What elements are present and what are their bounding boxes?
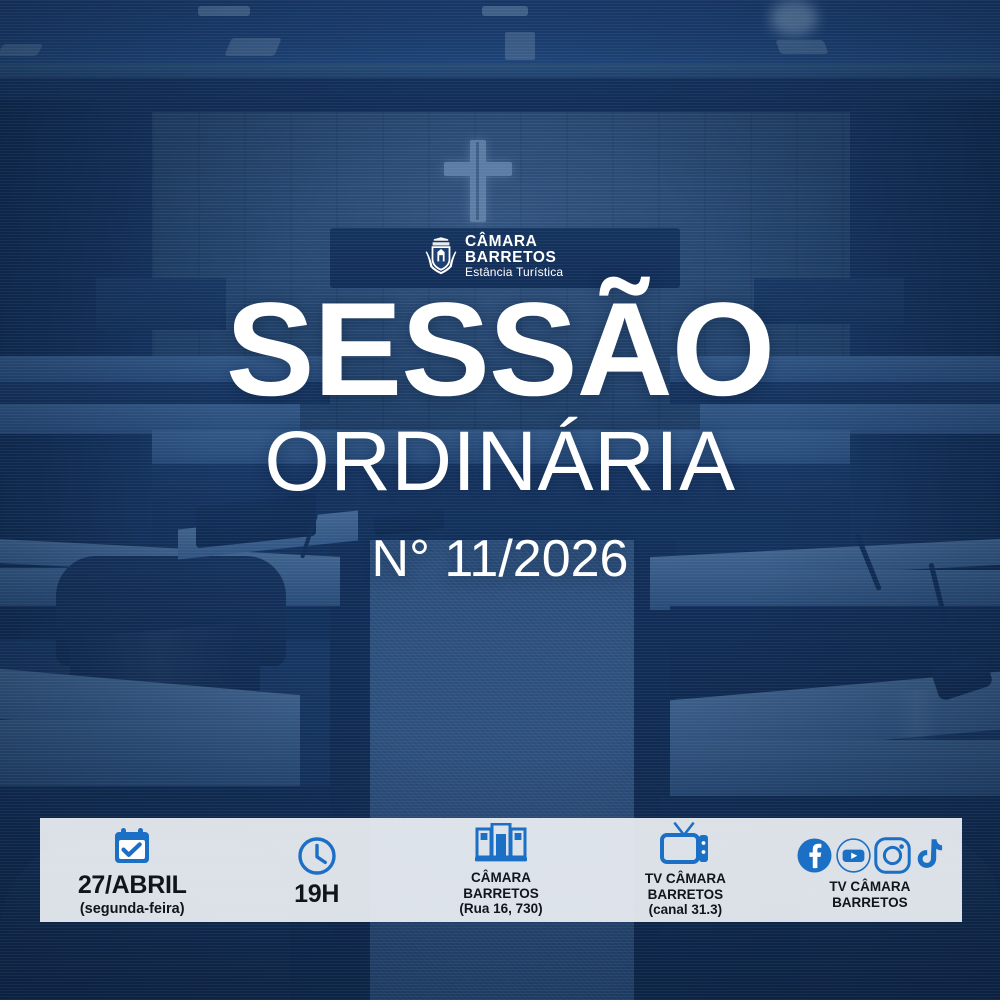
info-cell-time: 19H	[224, 818, 408, 922]
building-icon	[475, 823, 527, 865]
date-secondary: (segunda-feira)	[80, 902, 185, 917]
date-primary: 27/ABRIL	[78, 873, 187, 898]
tv-line-2: BARRETOS	[648, 887, 724, 903]
youtube-icon[interactable]	[835, 837, 872, 874]
logo-text: CÂMARA BARRETOS Estância Turística	[465, 234, 563, 278]
headline-block: SESSÃO ORDINÁRIA N° 11/2026	[0, 292, 1000, 589]
television-icon	[660, 822, 710, 866]
calendar-check-icon	[111, 824, 153, 868]
clock-icon	[296, 833, 338, 877]
page-title: SESSÃO	[0, 292, 1000, 409]
place-line-1: CÂMARA	[471, 870, 531, 886]
tv-line-1: TV CÂMARA	[645, 871, 726, 887]
time-primary: 19H	[294, 882, 339, 907]
page-subtitle: ORDINÁRIA	[0, 419, 1000, 503]
logo-line-1: CÂMARA	[465, 234, 563, 250]
info-cell-date: 27/ABRIL (segunda-feira)	[40, 818, 224, 922]
tv-line-3: (canal 31.3)	[649, 902, 723, 918]
camara-barretos-logo: CÂMARA BARRETOS Estância Turística	[424, 234, 563, 278]
info-bar: 27/ABRIL (segunda-feira) 19H	[40, 818, 962, 922]
place-line-3: (Rua 16, 730)	[459, 901, 542, 917]
logo-line-2: BARRETOS	[465, 250, 563, 266]
facebook-icon[interactable]	[796, 837, 833, 874]
tiktok-icon[interactable]	[913, 837, 943, 874]
session-number: N° 11/2026	[0, 529, 1000, 589]
social-line-2: BARRETOS	[832, 895, 908, 911]
info-cell-social: TV CÂMARA BARRETOS	[778, 818, 962, 922]
place-line-2: BARRETOS	[463, 886, 539, 902]
social-icons-group	[796, 830, 943, 874]
instagram-icon[interactable]	[874, 837, 911, 874]
info-cell-place: CÂMARA BARRETOS (Rua 16, 730)	[409, 818, 593, 922]
coat-of-arms-icon	[424, 236, 458, 276]
session-announcement-poster: CÂMARA BARRETOS Estância Turística SESSÃ…	[0, 0, 1000, 1000]
social-line-1: TV CÂMARA	[829, 879, 910, 895]
info-cell-tv: TV CÂMARA BARRETOS (canal 31.3)	[593, 818, 777, 922]
